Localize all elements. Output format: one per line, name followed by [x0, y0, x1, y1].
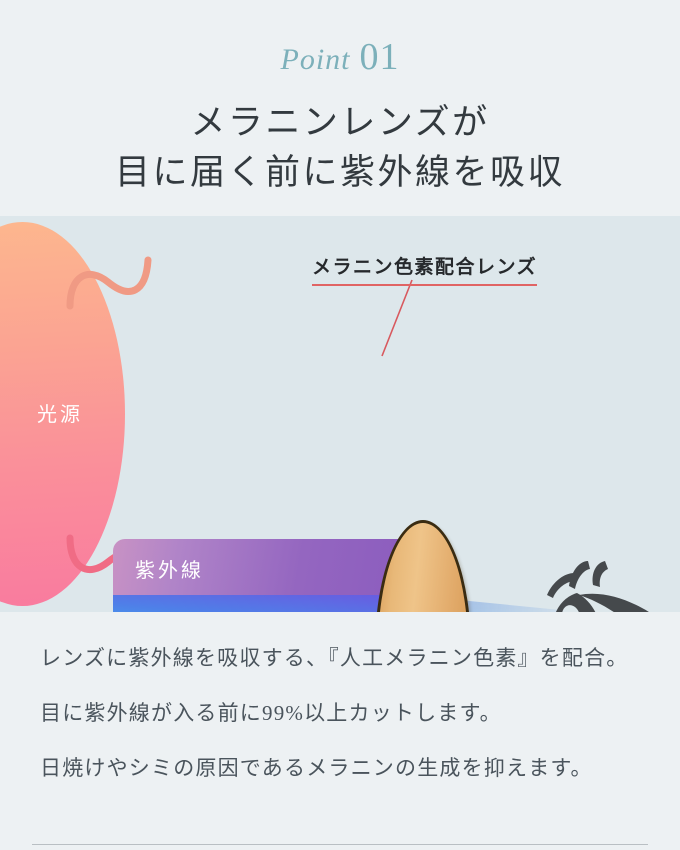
melanin-lens [375, 520, 471, 612]
point-word: Point [281, 43, 351, 76]
page-title-line-1: メラニンレンズが [0, 98, 680, 148]
body-copy: レンズに紫外線を吸収する、『人工メラニン色素』を配合。 目に紫外線が入る前に99… [40, 648, 650, 813]
diagram-panel: 光源 紫外線 ブルーライト 可視光線 メラニン色素配合レンズ [0, 216, 680, 612]
point-eyebrow: Point01 [0, 38, 680, 76]
spectrum-bands: 紫外線 ブルーライト 可視光線 [113, 539, 413, 612]
eye-icon [527, 559, 673, 612]
bottom-divider [32, 844, 648, 845]
page-header: Point01 メラニンレンズが 目に届く前に紫外線を吸収 [0, 0, 680, 197]
body-line-2: 目に紫外線が入る前に99%以上カットします。 [40, 703, 650, 724]
page-title-line-2: 目に届く前に紫外線を吸収 [0, 148, 680, 198]
point-number: 01 [360, 36, 400, 78]
body-line-3: 日焼けやシミの原因であるメラニンの生成を抑えます。 [40, 758, 650, 779]
band-blue-light: ブルーライト [113, 595, 413, 612]
lens-leader-line [300, 278, 440, 408]
light-source-label: 光源 [10, 398, 110, 427]
lens-callout: メラニン色素配合レンズ [312, 252, 537, 286]
page-title: メラニンレンズが 目に届く前に紫外線を吸収 [0, 98, 680, 197]
body-line-1: レンズに紫外線を吸収する、『人工メラニン色素』を配合。 [40, 648, 650, 669]
band-uv: 紫外線 [113, 539, 413, 595]
upper-ray-wave-icon [60, 240, 190, 320]
lens-callout-label: メラニン色素配合レンズ [312, 252, 537, 286]
band-uv-label: 紫外線 [135, 554, 204, 583]
